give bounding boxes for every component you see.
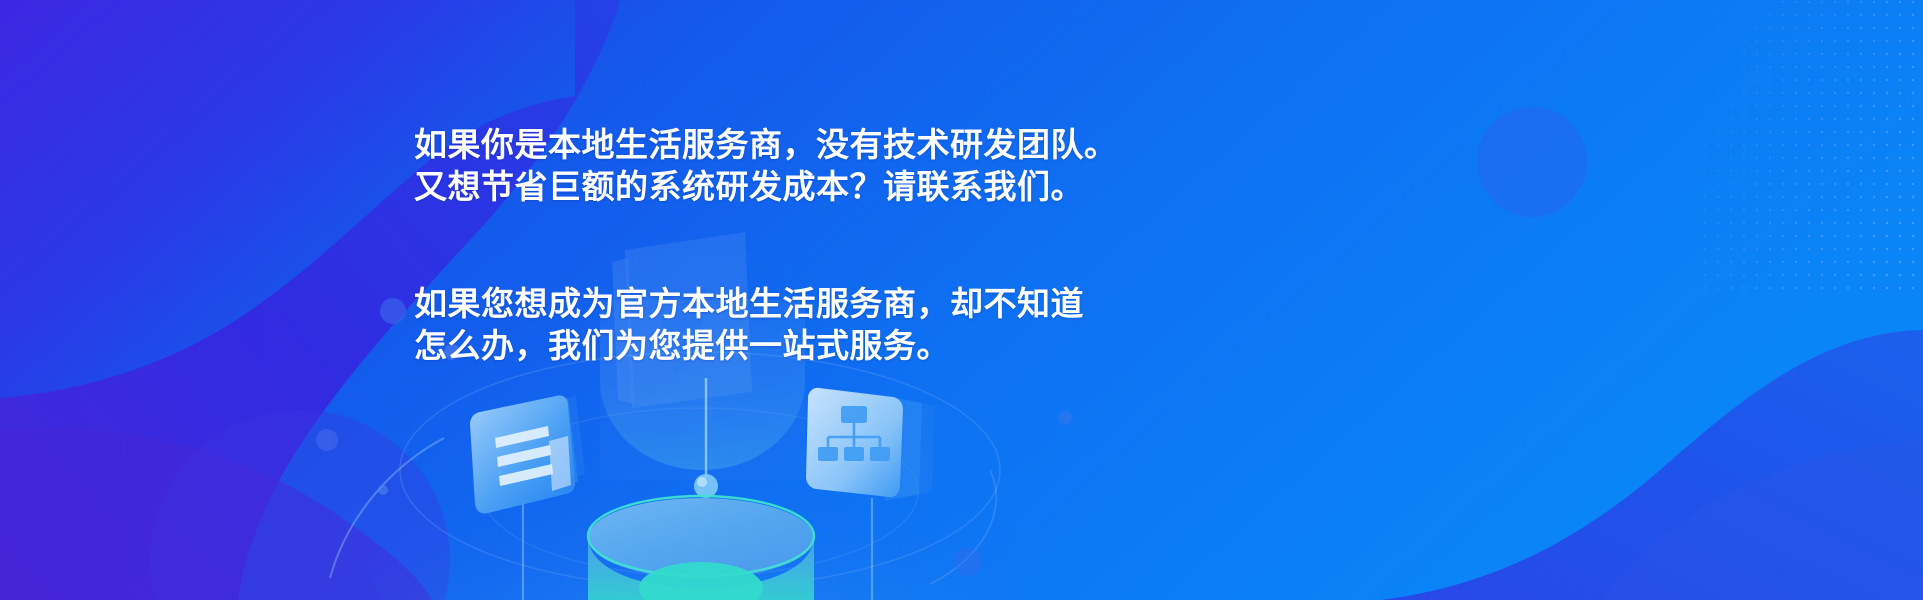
- paragraph-2: 如果您想成为官方本地生活服务商，却不知道 怎么办，我们为您提供一站式服务。: [414, 283, 1174, 367]
- decor-dot-6: [1058, 411, 1072, 425]
- podium: [588, 496, 814, 600]
- hierarchy-card: [806, 388, 935, 501]
- decor-dot-1: [380, 298, 406, 324]
- banner-copy: 如果你是本地生活服务商，没有技术研发团队。 又想节省巨额的系统研发成本？请联系我…: [414, 124, 1174, 367]
- decor-dot-3: [316, 429, 338, 451]
- document-block-icon: [549, 436, 571, 491]
- decor-dot-5: [954, 548, 982, 576]
- paragraph-1-line-1: 如果你是本地生活服务商，没有技术研发团队。: [414, 124, 1174, 166]
- connector-node-center: [694, 474, 718, 498]
- promo-banner: 如果你是本地生活服务商，没有技术研发团队。 又想节省巨额的系统研发成本？请联系我…: [0, 0, 1923, 600]
- paragraph-1: 如果你是本地生活服务商，没有技术研发团队。 又想节省巨额的系统研发成本？请联系我…: [414, 124, 1174, 208]
- decor-circle-large-right: [1477, 107, 1587, 217]
- decor-dot-4: [378, 485, 388, 495]
- paragraph-1-line-2: 又想节省巨额的系统研发成本？请联系我们。: [414, 166, 1174, 208]
- paragraph-2-line-1: 如果您想成为官方本地生活服务商，却不知道: [414, 283, 1174, 325]
- dot-grid-decor: [1700, 0, 1923, 290]
- connector-node-center-hl: [697, 477, 707, 487]
- paragraph-2-line-2: 怎么办，我们为您提供一站式服务。: [414, 325, 1174, 367]
